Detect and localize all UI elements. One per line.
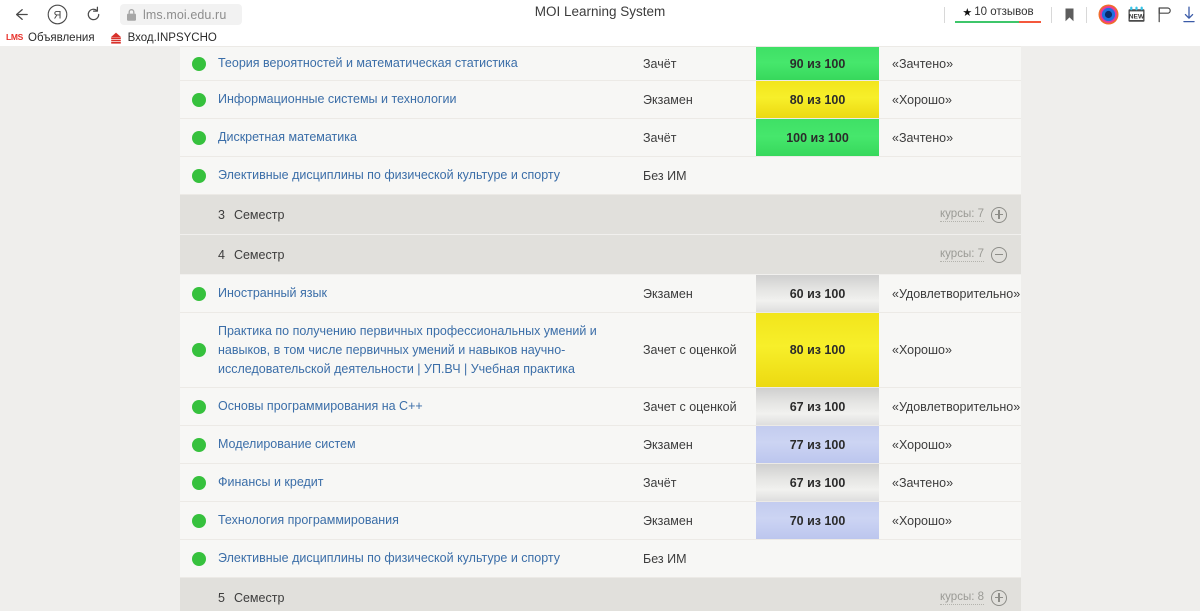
bookmark-inpsycho-login[interactable]: Вход.INPSYCHO	[109, 31, 217, 45]
course-subject-link[interactable]: Теория вероятностей и математическая ста…	[218, 54, 643, 73]
course-row[interactable]: Элективные дисциплины по физической куль…	[180, 157, 1021, 195]
course-grade: 100 из 100	[756, 119, 879, 156]
circle-avatar-icon[interactable]	[1094, 0, 1122, 29]
course-subject-link[interactable]: Элективные дисциплины по физической куль…	[218, 549, 643, 568]
semester-expand-icon[interactable]	[991, 207, 1007, 223]
semester-collapse-icon[interactable]	[991, 247, 1007, 263]
status-cell	[180, 514, 218, 528]
reload-button[interactable]	[78, 1, 108, 29]
rating-text: 10 отзывов	[974, 6, 1033, 18]
course-result: «Зачтено»	[879, 131, 1021, 145]
course-control-type: Экзамен	[643, 93, 756, 107]
status-cell	[180, 476, 218, 490]
status-dot-icon	[192, 552, 206, 566]
course-subject-link[interactable]: Элективные дисциплины по физической куль…	[218, 166, 643, 185]
status-dot-icon	[192, 131, 206, 145]
status-cell	[180, 57, 218, 71]
course-row[interactable]: Практика по получению первичных професси…	[180, 313, 1021, 388]
browser-chrome: Я lms.moi.edu.ru MOI Learning System	[0, 0, 1200, 46]
status-cell	[180, 400, 218, 414]
page-viewport: Теория вероятностей и математическая ста…	[0, 46, 1200, 611]
course-result: «Зачтено»	[879, 476, 1021, 490]
course-control-type: Без ИМ	[643, 169, 756, 183]
status-dot-icon	[192, 400, 206, 414]
course-result: «Хорошо»	[879, 93, 1021, 107]
reload-icon	[85, 6, 102, 23]
course-row[interactable]: Информационные системы и технологииЭкзам…	[180, 81, 1021, 119]
bookmark-label: Объявления	[28, 32, 95, 44]
course-control-type: Зачёт	[643, 131, 756, 145]
svg-text:Я: Я	[53, 10, 61, 22]
course-row[interactable]: Основы программирования на C++Зачет с оц…	[180, 388, 1021, 426]
svg-text:NEW: NEW	[1128, 13, 1144, 20]
toolbar-divider	[944, 7, 945, 23]
status-cell	[180, 93, 218, 107]
course-subject-link[interactable]: Дискретная математика	[218, 128, 643, 147]
bookmark-flag-icon[interactable]	[1059, 7, 1079, 23]
bookmark-label: Вход.INPSYCHO	[128, 32, 217, 44]
flag-tag-icon[interactable]	[1150, 0, 1178, 29]
rating-bar	[955, 21, 1041, 24]
course-control-type: Зачёт	[643, 476, 756, 490]
status-cell	[180, 552, 218, 566]
semester-number: 3	[218, 208, 225, 222]
course-grade: 67 из 100	[756, 464, 879, 501]
bookmark-announcements[interactable]: LMS Объявления	[6, 32, 95, 44]
course-grade: 80 из 100	[756, 81, 879, 118]
toolbar-divider	[1086, 7, 1087, 23]
semester-course-count[interactable]: курсы: 8	[940, 591, 984, 605]
course-grade	[756, 157, 879, 194]
course-result: «Хорошо»	[879, 514, 1021, 528]
status-dot-icon	[192, 169, 206, 183]
course-control-type: Экзамен	[643, 438, 756, 452]
semester-header-row[interactable]: 5Семестркурсы: 8	[180, 578, 1021, 611]
course-row[interactable]: Теория вероятностей и математическая ста…	[180, 46, 1021, 81]
site-rating-widget[interactable]: ★ 10 отзывов	[952, 6, 1044, 24]
course-subject-link[interactable]: Основы программирования на C++	[218, 397, 643, 416]
status-dot-icon	[192, 438, 206, 452]
status-cell	[180, 287, 218, 301]
course-result: «Удовлетворительно»	[879, 287, 1021, 301]
toolbar-right-actions: ★ 10 отзывов	[937, 0, 1200, 29]
rating-bar-positive	[955, 21, 1019, 24]
course-subject-link[interactable]: Технология программирования	[218, 511, 643, 530]
course-control-type: Экзамен	[643, 287, 756, 301]
semester-header-row[interactable]: 3Семестркурсы: 7	[180, 195, 1021, 235]
semester-number: 5	[218, 591, 225, 605]
course-subject-link[interactable]: Моделирование систем	[218, 435, 643, 454]
status-cell	[180, 169, 218, 183]
download-icon[interactable]	[1178, 0, 1200, 29]
course-row[interactable]: Иностранный языкЭкзамен60 из 100«Удовлет…	[180, 275, 1021, 313]
course-control-type: Экзамен	[643, 514, 756, 528]
course-row[interactable]: Дискретная математикаЗачёт100 из 100«Зач…	[180, 119, 1021, 157]
address-bar[interactable]: lms.moi.edu.ru	[120, 4, 242, 25]
status-dot-icon	[192, 343, 206, 357]
status-dot-icon	[192, 476, 206, 490]
semester-label: Семестр	[234, 248, 284, 262]
course-subject-link[interactable]: Практика по получению первичных професси…	[218, 322, 643, 379]
status-cell	[180, 131, 218, 145]
semester-course-count[interactable]: курсы: 7	[940, 208, 984, 222]
new-calendar-icon[interactable]: NEW	[1122, 0, 1150, 29]
url-text: lms.moi.edu.ru	[143, 8, 226, 22]
course-grade: 67 из 100	[756, 388, 879, 425]
status-dot-icon	[192, 287, 206, 301]
semester-header-row[interactable]: 4Семестркурсы: 7	[180, 235, 1021, 275]
toolbar-divider	[1051, 7, 1052, 23]
course-result: «Хорошо»	[879, 438, 1021, 452]
grades-table: Теория вероятностей и математическая ста…	[180, 46, 1021, 611]
course-row[interactable]: Моделирование системЭкзамен77 из 100«Хор…	[180, 426, 1021, 464]
lms-favicon: LMS	[6, 33, 23, 42]
star-icon: ★	[962, 6, 972, 19]
rating-bar-negative	[1019, 21, 1041, 24]
yandex-button[interactable]: Я	[42, 1, 72, 29]
semester-number: 4	[218, 248, 225, 262]
course-row[interactable]: Финансы и кредитЗачёт67 из 100«Зачтено»	[180, 464, 1021, 502]
course-result: «Хорошо»	[879, 343, 1021, 357]
semester-label: Семестр	[234, 208, 284, 222]
course-grade: 80 из 100	[756, 313, 879, 387]
course-grade: 77 из 100	[756, 426, 879, 463]
course-result: «Зачтено»	[879, 57, 1021, 71]
status-dot-icon	[192, 514, 206, 528]
course-control-type: Зачёт	[643, 57, 756, 71]
course-grade: 70 из 100	[756, 502, 879, 539]
course-grade: 60 из 100	[756, 275, 879, 312]
course-result: «Удовлетворительно»	[879, 400, 1021, 414]
course-row[interactable]: Элективные дисциплины по физической куль…	[180, 540, 1021, 578]
back-button[interactable]	[6, 1, 36, 29]
course-grade: 90 из 100	[756, 47, 879, 80]
course-control-type: Зачет с оценкой	[643, 400, 756, 414]
course-control-type: Без ИМ	[643, 552, 756, 566]
browser-toolbar: Я lms.moi.edu.ru MOI Learning System	[0, 0, 1200, 29]
rating-line: ★ 10 отзывов	[962, 6, 1033, 19]
inpsycho-favicon	[109, 31, 123, 45]
status-dot-icon	[192, 57, 206, 71]
back-arrow-icon	[13, 6, 30, 23]
course-subject-link[interactable]: Информационные системы и технологии	[218, 90, 643, 109]
status-cell	[180, 438, 218, 452]
course-subject-link[interactable]: Иностранный язык	[218, 284, 643, 303]
bookmarks-bar: LMS Объявления Вход.INPSYCHO	[0, 29, 1200, 46]
course-subject-link[interactable]: Финансы и кредит	[218, 473, 643, 492]
lock-icon	[124, 7, 139, 22]
semester-course-count[interactable]: курсы: 7	[940, 248, 984, 262]
semester-expand-icon[interactable]	[991, 590, 1007, 606]
course-control-type: Зачет с оценкой	[643, 343, 756, 357]
semester-label: Семестр	[234, 591, 284, 605]
yandex-logo-icon: Я	[47, 4, 68, 25]
course-grade	[756, 540, 879, 577]
course-row[interactable]: Технология программированияЭкзамен70 из …	[180, 502, 1021, 540]
status-cell	[180, 343, 218, 357]
status-dot-icon	[192, 93, 206, 107]
